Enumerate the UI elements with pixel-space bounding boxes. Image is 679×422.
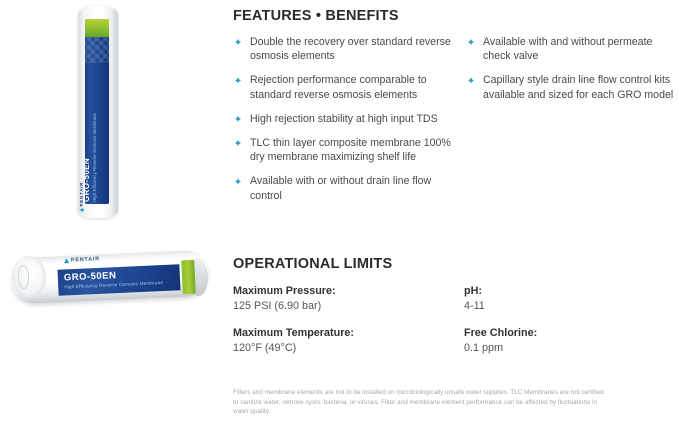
feature-text: TLC thin layer composite membrane 100% d… [250, 137, 451, 163]
feature-text: Double the recovery over standard revers… [250, 36, 451, 62]
content-area: FEATURES • BENEFITS Double the recovery … [233, 0, 679, 422]
spec-value: 0.1 ppm [464, 341, 679, 355]
diamond-bullet-icon [235, 140, 241, 146]
spec-value: 4-11 [464, 299, 679, 313]
feature-text: High rejection stability at high input T… [250, 113, 438, 125]
diamond-bullet-icon [235, 178, 241, 184]
operational-limits-section: OPERATIONAL LIMITS Maximum Pressure: 125… [233, 256, 679, 368]
vertical-brand-name: PENTAIR [79, 182, 84, 207]
feature-text: Capillary style drain line flow control … [483, 74, 673, 100]
spec-item-maximum-pressure: Maximum Pressure: 125 PSI (6.90 bar) [233, 284, 464, 313]
list-item: Available with or without drain line flo… [233, 174, 462, 202]
features-list-left: Double the recovery over standard revers… [233, 35, 465, 203]
diamond-bullet-icon [468, 39, 474, 45]
list-item: Capillary style drain line flow control … [466, 73, 679, 101]
spec-value: 125 PSI (6.90 bar) [233, 299, 464, 313]
spec-item-free-chlorine: Free Chlorine: 0.1 ppm [464, 326, 679, 355]
product-image-horizontal-element: GRO-50EN High Efficiency Reverse Osmosis… [12, 252, 208, 306]
list-item: Double the recovery over standard revers… [233, 35, 462, 63]
operational-limits-heading: OPERATIONAL LIMITS [233, 256, 679, 272]
spec-value: 120°F (49°C) [233, 341, 464, 355]
feature-text: Available with or without drain line flo… [250, 175, 431, 201]
vertical-tagline: High Efficiency Reverse Osmosis Membrane [92, 113, 97, 202]
list-item: Rejection performance comparable to stan… [233, 73, 462, 101]
specs-column-right: pH: 4-11 Free Chlorine: 0.1 ppm [464, 284, 679, 368]
product-image-vertical-element: GRO-50EN High Efficiency Reverse Osmosis… [78, 6, 118, 218]
spec-item-ph: pH: 4-11 [464, 284, 679, 313]
pentair-logo-icon [64, 258, 69, 263]
weave-texture [85, 37, 109, 63]
diamond-bullet-icon [235, 39, 241, 45]
features-heading: FEATURES • BENEFITS [233, 8, 679, 24]
disclaimer-text: Filters and membrane elements are not to… [233, 388, 605, 416]
feature-text: Available with and without permeate chec… [483, 36, 652, 62]
spec-label: Maximum Pressure: [233, 284, 464, 298]
vertical-label-text: GRO-50EN High Efficiency Reverse Osmosis… [85, 110, 109, 202]
list-item: TLC thin layer composite membrane 100% d… [233, 136, 462, 164]
list-item: High rejection stability at high input T… [233, 112, 462, 126]
membrane-green-band [181, 260, 196, 295]
features-column-left: Double the recovery over standard revers… [233, 35, 465, 213]
vertical-brand-area: PENTAIR [80, 154, 88, 212]
specs-column-left: Maximum Pressure: 125 PSI (6.90 bar) Max… [233, 284, 464, 368]
cartridge-label: GRO-50EN High Efficiency Reverse Osmosis… [85, 19, 109, 204]
list-item: Available with and without permeate chec… [466, 35, 679, 63]
spec-item-maximum-temperature: Maximum Temperature: 120°F (49°C) [233, 326, 464, 355]
features-list-right: Available with and without permeate chec… [466, 35, 679, 102]
diamond-bullet-icon [235, 116, 241, 122]
features-column-right: Available with and without permeate chec… [465, 35, 679, 213]
green-band [85, 19, 109, 37]
diamond-bullet-icon [468, 77, 474, 83]
features-section: FEATURES • BENEFITS Double the recovery … [233, 8, 679, 213]
spec-label: Maximum Temperature: [233, 326, 464, 340]
membrane-label: GRO-50EN High Efficiency Reverse Osmosis… [57, 264, 180, 296]
pentair-logo-icon [80, 208, 84, 212]
diamond-bullet-icon [235, 77, 241, 83]
spec-label: Free Chlorine: [464, 326, 679, 340]
feature-text: Rejection performance comparable to stan… [250, 74, 427, 100]
spec-label: pH: [464, 284, 679, 298]
product-image-area: GRO-50EN High Efficiency Reverse Osmosis… [0, 0, 228, 422]
